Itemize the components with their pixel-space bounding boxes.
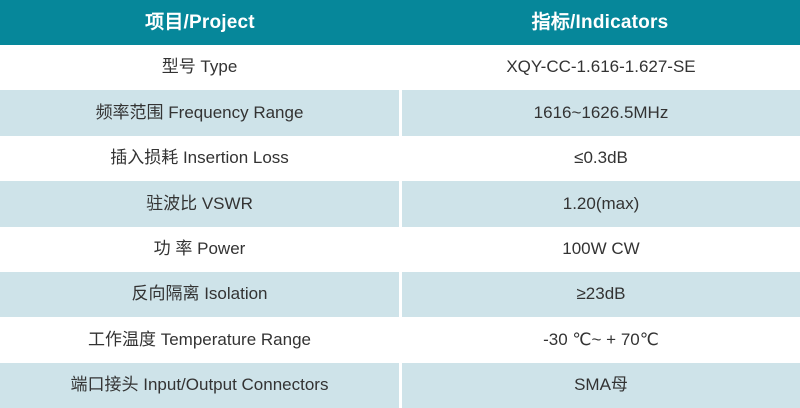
specification-table: 项目/Project 指标/Indicators 型号 TypeXQY-CC-1… (0, 0, 800, 408)
cell-item-label: 工作温度 Temperature Range (0, 317, 399, 362)
column-header-project: 项目/Project (0, 0, 400, 45)
cell-indicator-value: ≥23dB (402, 272, 800, 317)
table-row: 反向隔离 Isolation≥23dB (0, 272, 800, 317)
cell-indicator-value: 100W CW (402, 227, 800, 272)
cell-item-label: 端口接头 Input/Output Connectors (0, 363, 399, 408)
cell-item-label: 反向隔离 Isolation (0, 272, 399, 317)
cell-item-label: 功 率 Power (0, 227, 399, 272)
cell-item-label: 驻波比 VSWR (0, 181, 399, 226)
table-header-row: 项目/Project 指标/Indicators (0, 0, 800, 45)
cell-item-label: 型号 Type (0, 45, 399, 90)
table-row: 插入损耗 Insertion Loss≤0.3dB (0, 136, 800, 181)
table-row: 频率范围 Frequency Range1616~1626.5MHz (0, 90, 800, 135)
table-row: 端口接头 Input/Output ConnectorsSMA母 (0, 363, 800, 408)
cell-indicator-value: XQY-CC-1.616-1.627-SE (402, 45, 800, 90)
table-row: 工作温度 Temperature Range-30 ℃~ + 70℃ (0, 317, 800, 362)
table-row: 驻波比 VSWR1.20(max) (0, 181, 800, 226)
table-row: 功 率 Power100W CW (0, 227, 800, 272)
cell-indicator-value: 1616~1626.5MHz (402, 90, 800, 135)
cell-item-label: 频率范围 Frequency Range (0, 90, 399, 135)
cell-indicator-value: ≤0.3dB (402, 136, 800, 181)
column-header-indicators: 指标/Indicators (400, 0, 800, 45)
table-body: 型号 TypeXQY-CC-1.616-1.627-SE频率范围 Frequen… (0, 45, 800, 408)
cell-indicator-value: SMA母 (402, 363, 800, 408)
cell-item-label: 插入损耗 Insertion Loss (0, 136, 399, 181)
table-row: 型号 TypeXQY-CC-1.616-1.627-SE (0, 45, 800, 90)
cell-indicator-value: -30 ℃~ + 70℃ (402, 317, 800, 362)
cell-indicator-value: 1.20(max) (402, 181, 800, 226)
